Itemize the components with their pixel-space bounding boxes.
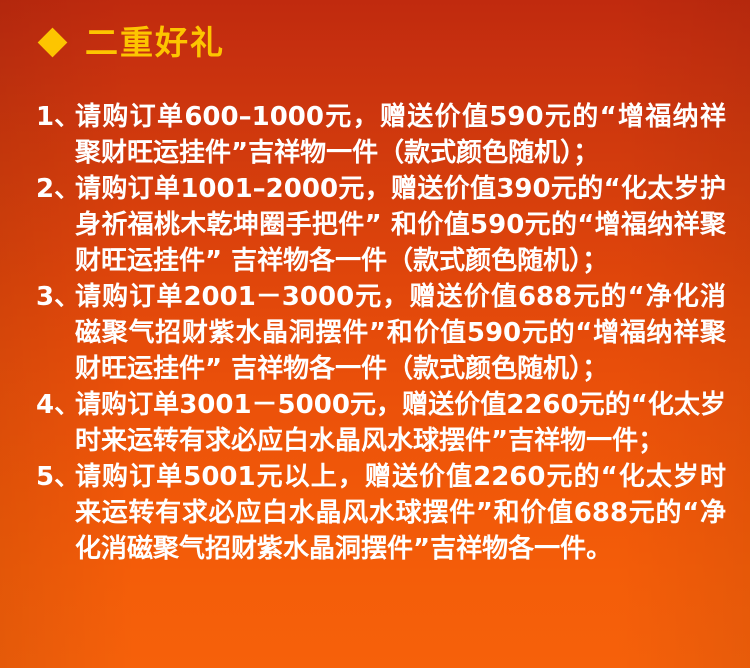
list-item-text: 请购订单3001－5000元，赠送价值2260元的“化太岁时来运转有求必应白水晶… bbox=[75, 387, 726, 459]
list-item-text: 请购订单5001元以上，赠送价值2260元的“化太岁时来运转有求必应白水晶风水球… bbox=[75, 459, 726, 567]
list-item-index: 3、 bbox=[36, 279, 75, 315]
list-item: 5、 请购订单5001元以上，赠送价值2260元的“化太岁时来运转有求必应白水晶… bbox=[36, 459, 726, 567]
offer-list: 1、 请购订单600–1000元，赠送价值590元的“增福纳祥聚财旺运挂件”吉祥… bbox=[36, 99, 726, 567]
list-item-index: 2、 bbox=[36, 171, 75, 207]
list-item: 3、 请购订单2001－3000元，赠送价值688元的“净化消磁聚气招财紫水晶洞… bbox=[36, 279, 726, 387]
list-item: 1、 请购订单600–1000元，赠送价值590元的“增福纳祥聚财旺运挂件”吉祥… bbox=[36, 99, 726, 171]
list-item-text: 请购订单600–1000元，赠送价值590元的“增福纳祥聚财旺运挂件”吉祥物一件… bbox=[75, 99, 726, 171]
promotion-banner: 二重好礼 1、 请购订单600–1000元，赠送价值590元的“增福纳祥聚财旺运… bbox=[0, 0, 750, 668]
list-item-text: 请购订单2001－3000元，赠送价值688元的“净化消磁聚气招财紫水晶洞摆件”… bbox=[75, 279, 726, 387]
list-item-index: 4、 bbox=[36, 387, 75, 423]
list-item-text: 请购订单1001–2000元，赠送价值390元的“化太岁护身祈福桃木乾坤圈手把件… bbox=[75, 171, 726, 279]
diamond-icon bbox=[38, 28, 68, 58]
list-item-index: 5、 bbox=[36, 459, 75, 495]
list-item-index: 1、 bbox=[36, 99, 75, 135]
page-title: 二重好礼 bbox=[85, 26, 225, 59]
banner-header: 二重好礼 bbox=[40, 26, 225, 59]
list-item: 4、 请购订单3001－5000元，赠送价值2260元的“化太岁时来运转有求必应… bbox=[36, 387, 726, 459]
list-item: 2、 请购订单1001–2000元，赠送价值390元的“化太岁护身祈福桃木乾坤圈… bbox=[36, 171, 726, 279]
